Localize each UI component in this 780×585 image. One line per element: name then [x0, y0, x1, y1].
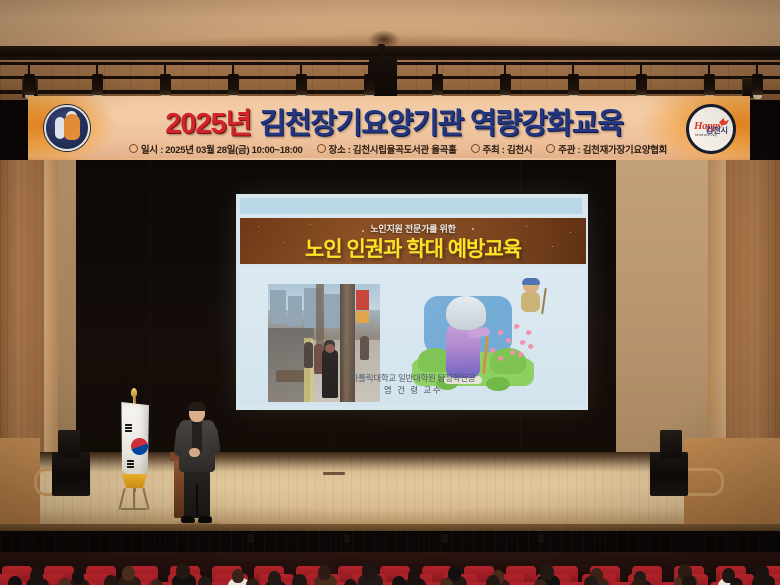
stage-light-3	[160, 74, 171, 96]
stage-floor-slot	[323, 472, 345, 475]
right-pillar	[708, 160, 726, 460]
stage-speaker-top-right	[660, 430, 682, 458]
circle-bullet-icon	[317, 144, 326, 153]
attendee-head	[30, 568, 43, 583]
illus-child-stick	[541, 288, 547, 314]
photo-sign-yellow	[356, 311, 369, 323]
apron-speaker-2	[344, 534, 350, 543]
banner-detail-3: 주최 : 김천시	[471, 142, 533, 156]
attendee-head	[392, 576, 406, 585]
banner-detail-4: 주관 : 김천재가장기요양협회	[546, 142, 667, 156]
attendee-head	[122, 566, 135, 581]
presenter-shoe-right	[198, 516, 212, 523]
photo-sign-red	[356, 290, 369, 310]
flag-stand	[119, 488, 149, 510]
illus-petal-4	[519, 339, 526, 346]
banner-title: 2025년 김천장기요양기관 역량강화교육	[106, 103, 682, 139]
right-wall-texture	[726, 160, 780, 460]
attendee-head	[682, 575, 696, 585]
left-pillar	[44, 160, 58, 460]
emblem-head	[66, 111, 77, 122]
banner-year: 2025년	[165, 100, 251, 142]
attendee-head	[486, 575, 500, 585]
attendee-head	[318, 565, 331, 580]
presenter-hair	[188, 402, 206, 411]
slide-top-strip	[240, 198, 582, 214]
attendee-head	[584, 576, 598, 585]
stage-light-7	[432, 74, 443, 96]
banner-detail-label: 주최 : 김천시	[483, 142, 533, 156]
banner-details: 일시 : 2025년 03월 28일(금) 10:00~18:00장소 : 김천…	[108, 140, 688, 157]
left-inner-wall	[58, 160, 76, 460]
illus-child-cap	[522, 278, 540, 285]
illus-child-body	[521, 292, 540, 312]
stage-light-4	[228, 74, 239, 96]
presentation-slide: 노인지원 전문가를 위한 노인 인권과 학대 예방교육	[236, 194, 588, 410]
taeguk-circle	[131, 438, 148, 455]
stage-light-1	[24, 74, 35, 96]
photo-person-1	[304, 342, 313, 368]
attendee-head	[292, 574, 307, 585]
attendee-head	[150, 579, 163, 585]
attendee-head	[8, 576, 22, 585]
stage-light-5	[296, 74, 307, 96]
banner-detail-label: 장소 : 김천시립율곡도서관 율곡홀	[329, 142, 457, 156]
flag-fringe	[120, 474, 148, 488]
stage-light-2	[92, 74, 103, 96]
presenter-leg-gap	[196, 484, 198, 516]
banner-detail-1: 일시 : 2025년 03월 28일(금) 10:00~18:00	[129, 142, 303, 156]
attendee-head	[232, 569, 244, 583]
apron-speaker-4	[538, 534, 544, 543]
slide-title-bar: 노인지원 전문가를 위한 노인 인권과 학대 예방교육	[240, 218, 586, 264]
illus-petal-5	[525, 329, 532, 336]
left-wall-texture	[0, 160, 44, 460]
happy-kimcheon-logo: Happy kimcheon city 김천시	[686, 104, 736, 154]
slide-credit-affiliation: 가톨릭대학교 일반대학원 탐정학전공	[240, 372, 586, 384]
illus-petal-10	[527, 343, 534, 350]
attendee-head	[176, 563, 190, 579]
logo-kr-text: 김천시	[706, 125, 728, 136]
stage-speaker-top-left	[58, 430, 80, 458]
circle-bullet-icon	[129, 144, 138, 153]
right-inner-wall	[616, 160, 708, 460]
apron-speaker-1	[248, 534, 254, 543]
banner-detail-2: 장소 : 김천시립율곡도서관 율곡홀	[317, 142, 457, 156]
photo-person-5	[360, 336, 369, 360]
audience-seating	[0, 552, 780, 585]
photo-building-4	[324, 294, 340, 328]
attendee-head	[362, 562, 377, 579]
slide-body: 가톨릭대학교 일반대학원 탐정학전공 염 건 령 교수	[240, 268, 586, 406]
south-korea-flag	[113, 388, 155, 514]
event-banner: Happy kimcheon city 김천시 2025년 김천장기요양기관 역…	[28, 96, 750, 162]
presenter-standing	[175, 404, 219, 526]
attendee-head	[408, 569, 420, 583]
auditorium-photo: Happy kimcheon city 김천시 2025년 김천장기요양기관 역…	[0, 0, 780, 585]
stage-light-11	[704, 74, 715, 96]
presenter-hand	[189, 448, 200, 457]
apron-speaker-3	[442, 534, 448, 543]
photo-building-2	[288, 296, 302, 326]
attendee-head	[268, 571, 281, 585]
photo-person-4-head	[325, 344, 335, 353]
banner-detail-label: 주관 : 김천재가장기요양협회	[558, 142, 667, 156]
stage-light-8	[500, 74, 511, 96]
slide-credit-name: 염 건 령 교수	[240, 384, 586, 396]
illus-child-figure	[516, 280, 546, 320]
attendee-head	[104, 575, 118, 585]
illus-elder-hair	[446, 296, 486, 330]
stage-edge	[0, 524, 780, 531]
photo-tree-far	[316, 284, 324, 350]
stage-monitor-speaker-right	[650, 452, 688, 496]
stage-monitor-speaker-left	[52, 452, 90, 496]
kimcheon-association-emblem	[44, 105, 90, 151]
illus-petal-3	[513, 323, 520, 330]
flag-cloth	[119, 402, 149, 480]
attendee-head	[540, 564, 554, 580]
photo-building-1	[270, 290, 286, 324]
attendee-head	[72, 570, 84, 584]
presenter-shoe-left	[181, 516, 195, 523]
projection-screen: 노인지원 전문가를 위한 노인 인권과 학대 예방교육	[236, 194, 588, 410]
slide-title: 노인 인권과 학대 예방교육	[240, 233, 586, 263]
attendee-head	[756, 565, 769, 580]
banner-detail-label: 일시 : 2025년 03월 28일(금) 10:00~18:00	[141, 142, 303, 156]
stage-light-9	[568, 74, 579, 96]
banner-main-title: 김천장기요양기관 역량강화교육	[259, 100, 623, 142]
stage-light-6	[364, 74, 375, 96]
circle-bullet-icon	[471, 144, 480, 153]
circle-bullet-icon	[546, 144, 555, 153]
attendee-head	[198, 576, 212, 585]
stage-light-12	[752, 74, 763, 96]
stage-light-10	[636, 74, 647, 96]
